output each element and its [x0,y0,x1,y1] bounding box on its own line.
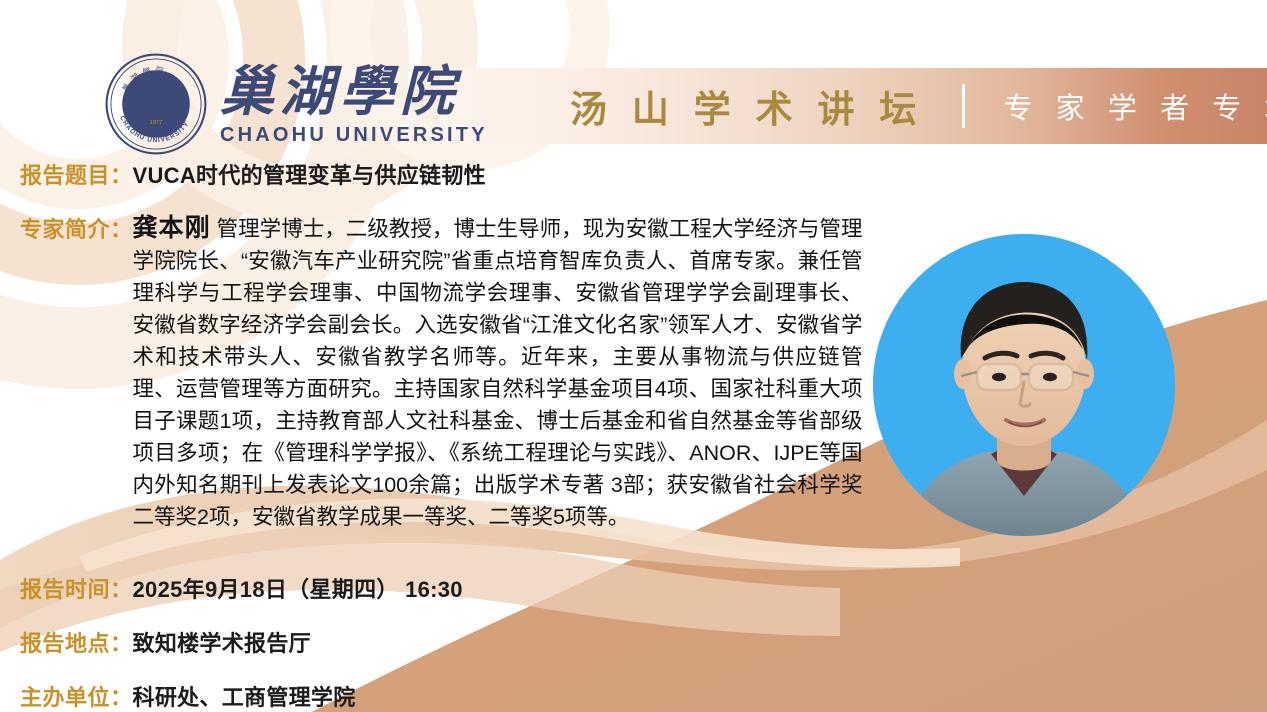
band-divider [962,84,965,128]
label-lecture-title: 报告题目： [20,158,133,190]
value-lecture-time: 2025年9月18日（星期四） 16:30 [133,572,463,604]
value-lecture-place: 致知楼学术报告厅 [133,626,311,658]
logo-wordmark-en: CHAOHU UNIVERSITY [220,125,488,145]
row-speaker-bio: 专家简介： 龚本刚 管理学博士，二级教授，博士生导师，现为安徽工程大学经济与管理… [20,212,900,533]
speaker-portrait [873,234,1175,536]
header-band: 汤 山 学 术 讲 坛 专 家 学 者 专 场 [440,68,1267,144]
band-subtitle: 专 家 学 者 专 场 [1003,85,1267,127]
value-organizer: 科研处、工商管理学院 [133,680,356,712]
value-lecture-title: VUCA时代的管理变革与供应链韧性 [133,158,486,190]
band-title: 汤 山 学 术 讲 坛 [570,79,922,133]
speaker-bio-text: 管理学博士，二级教授，博士生导师，现为安徽工程大学经济与管理学院院长、“安徽汽车… [133,217,863,529]
university-logo: 1977 巢湖學院 CHAOHU UNIVERSITY 巢湖學院 CHAOHU … [104,52,488,156]
label-lecture-time: 报告时间： [20,572,133,604]
speaker-name: 龚本刚 [133,214,211,242]
label-lecture-place: 报告地点： [20,626,133,658]
speaker-bio-body: 龚本刚 管理学博士，二级教授，博士生导师，现为安徽工程大学经济与管理学院院长、“… [133,212,863,533]
row-lecture-place: 报告地点： 致知楼学术报告厅 [20,626,311,658]
row-organizer: 主办单位： 科研处、工商管理学院 [20,680,356,712]
poster-canvas: 汤 山 学 术 讲 坛 专 家 学 者 专 场 1977 巢湖學院 CHAOHU… [0,0,1267,712]
row-lecture-title: 报告题目： VUCA时代的管理变革与供应链韧性 [20,158,486,190]
label-speaker-bio: 专家简介： [20,212,133,244]
seal-year: 1977 [150,120,163,126]
logo-wordmark-cn: 巢湖學院 [220,64,488,118]
label-organizer: 主办单位： [20,680,133,712]
university-seal-icon: 1977 巢湖學院 CHAOHU UNIVERSITY [104,52,208,156]
portrait-illustration [873,234,1175,536]
row-lecture-time: 报告时间： 2025年9月18日（星期四） 16:30 [20,572,463,604]
